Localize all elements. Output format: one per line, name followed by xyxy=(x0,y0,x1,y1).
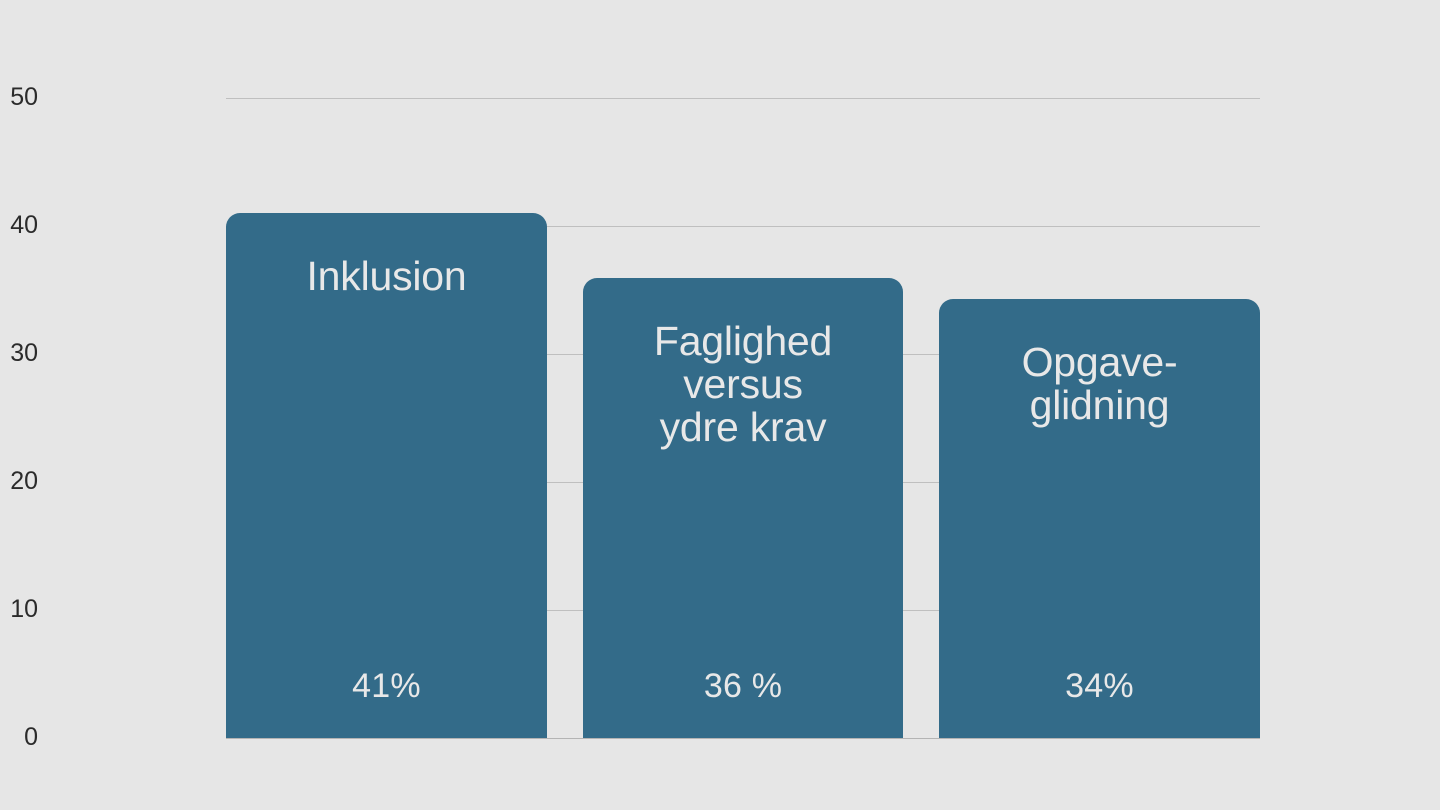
bar-inklusion[interactable]: Inklusion 41% xyxy=(226,213,547,738)
bar-label-opgaveglidning: Opgave-glidning xyxy=(1016,341,1184,427)
gridline-50 xyxy=(226,98,1260,99)
plot-area: 50 40 30 20 10 0 Inklusion 41% Faglighed… xyxy=(226,98,1260,738)
y-axis-tick-40: 40 xyxy=(0,213,38,238)
y-axis-tick-50: 50 xyxy=(0,85,38,110)
bar-label-inklusion: Inklusion xyxy=(300,255,472,298)
y-axis-tick-30: 30 xyxy=(0,341,38,366)
y-axis-tick-10: 10 xyxy=(0,597,38,622)
bar-faglighed-versus-ydre-krav[interactable]: Faglighedversusydre krav 36 % xyxy=(583,278,903,738)
bar-value-opgaveglidning: 34% xyxy=(939,669,1260,703)
bar-opgaveglidning[interactable]: Opgave-glidning 34% xyxy=(939,299,1260,738)
gridline-baseline-0 xyxy=(226,738,1260,739)
y-axis-tick-0: 0 xyxy=(0,725,38,750)
bar-value-inklusion: 41% xyxy=(226,669,547,703)
bar-value-faglighed-versus-ydre-krav: 36 % xyxy=(583,669,903,703)
bar-label-faglighed-versus-ydre-krav: Faglighedversusydre krav xyxy=(648,320,838,449)
y-axis-tick-20: 20 xyxy=(0,469,38,494)
bar-chart: 50 40 30 20 10 0 Inklusion 41% Faglighed… xyxy=(0,0,1440,810)
